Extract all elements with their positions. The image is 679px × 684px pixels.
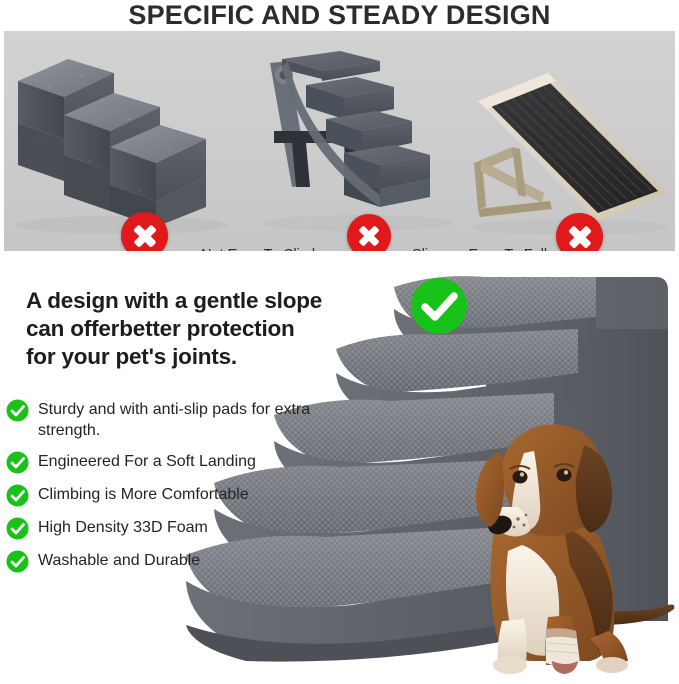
red-x-icon [347, 214, 391, 251]
green-check-icon [410, 277, 468, 340]
header: SPECIFIC AND STEADY DESIGN [0, 0, 679, 30]
green-check-icon [6, 517, 29, 540]
pet-image-dog [452, 415, 679, 684]
page-title: SPECIFIC AND STEADY DESIGN [128, 0, 550, 30]
feature-label: High Density 33D Foam [38, 516, 208, 538]
feature-item: Engineered For a Soft Landing [6, 450, 346, 474]
feature-item: Washable and Durable [6, 549, 346, 573]
feature-item: Climbing is More Comfortable [6, 483, 346, 507]
feature-label: Climbing is More Comfortable [38, 483, 249, 505]
bad-caption-slippery: Slippery Easy To Fall [412, 247, 547, 251]
headline-line-3: for your pet's joints. [26, 343, 346, 371]
bad-caption-climb: Not Easy To Climb [201, 247, 320, 251]
feature-label: Engineered For a Soft Landing [38, 450, 256, 472]
comparison-panel: Not Easy To Climb [4, 31, 675, 251]
bad-product-wooden-ramp [452, 51, 675, 246]
feature-list: Sturdy and with anti-slip pads for extra… [6, 398, 346, 582]
feature-item: High Density 33D Foam [6, 516, 346, 540]
product-headline: A design with a gentle slope can offerbe… [26, 287, 346, 371]
bad-product-foam-stairs [10, 41, 240, 246]
green-check-icon [6, 550, 29, 573]
feature-item: Sturdy and with anti-slip pads for extra… [6, 398, 346, 441]
red-x-icon [121, 212, 168, 251]
green-check-icon [6, 484, 29, 507]
feature-label: Sturdy and with anti-slip pads for extra… [38, 398, 346, 441]
headline-line-2: can offerbetter protection [26, 315, 346, 343]
headline-line-1: A design with a gentle slope [26, 287, 346, 315]
product-panel: A design with a gentle slope can offerbe… [0, 255, 679, 679]
feature-label: Washable and Durable [38, 549, 200, 571]
green-check-icon [6, 399, 29, 422]
green-check-icon [6, 451, 29, 474]
bad-product-plastic-stairs [248, 45, 458, 245]
infographic-page: SPECIFIC AND STEADY DESIGN [0, 0, 679, 679]
